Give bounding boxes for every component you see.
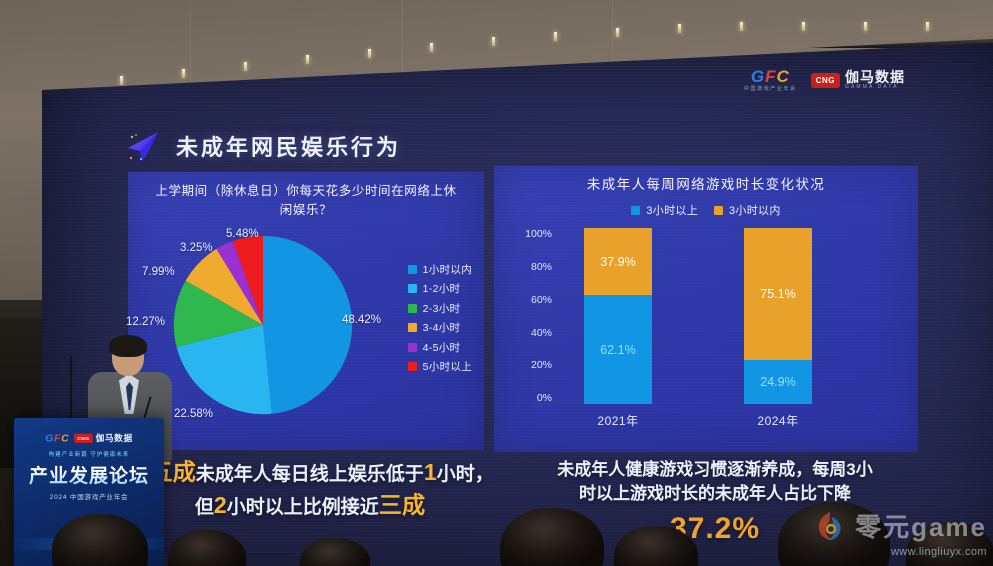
bar-chart-plot: 100% 80% 60% 40% 20% 0% 37.9% 62.1% 2021… <box>494 224 918 436</box>
watermark-logo-icon <box>813 509 847 543</box>
y-tick-20: 20% <box>531 359 552 371</box>
podium-gfc-g: G <box>45 432 54 444</box>
cng-logo-en: GAMMA DATA <box>845 85 905 90</box>
pie-chart-panel: 上学期间（除休息日）你每天花多少时间在网络上休闲娱乐？ 48.42% 22.58… <box>128 172 484 450</box>
bar-legend-item-0[interactable]: 3小时以上 <box>631 202 698 218</box>
bar-segment-2021-within3h: 37.9% <box>584 228 652 295</box>
legend-swatch-4 <box>408 343 417 352</box>
watermark-row: 零元game <box>813 507 987 544</box>
legend-label-3: 3-4小时 <box>423 320 461 335</box>
podium-cng-logo: CNG 伽马数据 <box>74 432 132 444</box>
legend-swatch-5 <box>408 362 417 371</box>
page-title: 未成年网民娱乐行为 <box>176 130 401 162</box>
watermark-url: www.lingliuyx.com <box>813 546 987 558</box>
audience-head <box>52 514 148 566</box>
pie-label-5: 5.48% <box>226 228 259 240</box>
audience-head <box>300 538 370 566</box>
legend-swatch-3 <box>408 323 417 332</box>
legend-swatch-1 <box>408 284 417 293</box>
podium-cng-cn: 伽马数据 <box>96 432 133 444</box>
bar-column-2024[interactable]: 75.1% 24.9% 2024年 <box>744 228 812 404</box>
audience-head <box>614 526 698 566</box>
legend-label-4: 4-5小时 <box>423 340 461 355</box>
podium-cng-badge: CNG <box>74 433 92 442</box>
legend-label-0: 1小时以内 <box>423 262 472 277</box>
screen-logo-group: GFC 中国游戏产业年会 CNG 伽马数据 GAMMA DATA <box>744 68 905 92</box>
bar-series-area: 37.9% 62.1% 2021年 75.1% 24.9% 2024年 <box>566 228 896 404</box>
y-tick-80: 80% <box>531 261 552 273</box>
bar-segment-2021-over3h: 62.1% <box>584 295 652 404</box>
gfc-letter-f: F <box>765 67 776 86</box>
legend-item-5[interactable]: 5小时以上 <box>408 359 472 374</box>
cng-badge: CNG <box>811 73 840 88</box>
y-tick-0: 0% <box>537 392 552 404</box>
podium-logo-group: GFC CNG 伽马数据 <box>43 432 136 444</box>
bar-column-2021[interactable]: 37.9% 62.1% 2021年 <box>584 228 652 404</box>
legend-item-0[interactable]: 1小时以内 <box>408 262 472 277</box>
cng-logo-text: 伽马数据 GAMMA DATA <box>845 70 905 90</box>
y-tick-60: 60% <box>531 294 552 306</box>
paper-plane-icon <box>122 126 164 166</box>
bar-legend-label-0: 3小时以上 <box>646 202 698 218</box>
y-tick-100: 100% <box>525 228 552 240</box>
bar-segment-2024-within3h: 75.1% <box>744 228 812 360</box>
pie-label-3: 7.99% <box>142 266 175 278</box>
legend-label-1: 1-2小时 <box>423 281 461 296</box>
watermark: 零元game www.lingliuyx.com <box>813 507 987 558</box>
pie-label-0: 48.42% <box>342 314 381 326</box>
audience-head <box>168 530 246 566</box>
bar-chart-title: 未成年人每周网络游戏时长变化状况 <box>494 166 918 195</box>
gfc-logo-mark: GFC <box>751 68 790 85</box>
cng-logo: CNG 伽马数据 GAMMA DATA <box>811 70 905 90</box>
slide-title-row: 未成年网民娱乐行为 <box>122 126 401 166</box>
podium-tagline: 构建产业新篇 守护健康未来 <box>14 450 164 458</box>
pie-label-4: 3.25% <box>180 242 213 254</box>
legend-swatch-0 <box>408 265 417 274</box>
legend-item-2[interactable]: 2-3小时 <box>408 301 472 316</box>
x-label-2024: 2024年 <box>733 412 823 429</box>
legend-item-3[interactable]: 3-4小时 <box>408 320 472 335</box>
y-axis: 100% 80% 60% 40% 20% 0% <box>506 228 552 404</box>
pie-chart-area: 48.42% 22.58% 12.27% 7.99% 3.25% 5.48% 1… <box>128 220 484 432</box>
bar-legend-item-1[interactable]: 3小时以内 <box>714 202 781 218</box>
pie-label-1: 22.58% <box>174 408 213 420</box>
bar-chart-legend: 3小时以上 3小时以内 <box>494 202 918 218</box>
bar-legend-label-1: 3小时以内 <box>729 202 781 218</box>
podium-gfc-f: F <box>54 432 61 444</box>
bar-chart-panel: 未成年人每周网络游戏时长变化状况 3小时以上 3小时以内 100% 80% 60… <box>494 166 918 452</box>
pie-chart-question: 上学期间（除休息日）你每天花多少时间在网络上休闲娱乐？ <box>128 172 484 220</box>
pie-label-2: 12.27% <box>126 316 165 328</box>
watermark-text: 零元game <box>855 507 987 544</box>
podium-gfc-mark: GFC <box>45 433 69 444</box>
legend-swatch-2 <box>408 304 417 313</box>
audience-head <box>500 508 604 566</box>
podium-gfc-logo: GFC <box>45 433 69 444</box>
bar-segment-2024-over3h: 24.9% <box>744 360 812 404</box>
legend-label-5: 5小时以上 <box>423 359 472 374</box>
screenshot-root: GFC 中国游戏产业年会 CNG 伽马数据 GAMMA DATA <box>0 0 993 566</box>
microphone-stand <box>70 356 72 426</box>
x-label-2021: 2021年 <box>573 412 663 429</box>
pie-chart <box>172 234 354 416</box>
legend-item-4[interactable]: 4-5小时 <box>408 340 472 355</box>
pie-chart-svg <box>172 234 354 416</box>
pie-chart-legend: 1小时以内 1-2小时 2-3小时 3-4小时 4-5小时 <box>408 262 472 375</box>
gfc-letter-c: C <box>776 67 789 86</box>
bar-legend-swatch-0 <box>631 206 640 215</box>
y-tick-40: 40% <box>531 327 552 339</box>
gfc-logo-subtitle: 中国游戏产业年会 <box>744 87 797 92</box>
legend-item-1[interactable]: 1-2小时 <box>408 281 472 296</box>
pie-slice-0[interactable] <box>263 235 352 413</box>
gfc-letter-g: G <box>751 67 765 86</box>
cng-logo-cn: 伽马数据 <box>845 70 905 85</box>
legend-label-2: 2-3小时 <box>423 301 461 316</box>
speaker-hair <box>109 335 147 357</box>
gfc-logo: GFC 中国游戏产业年会 <box>744 68 797 92</box>
bar-legend-swatch-1 <box>714 206 723 215</box>
podium-gfc-c: C <box>61 432 69 444</box>
